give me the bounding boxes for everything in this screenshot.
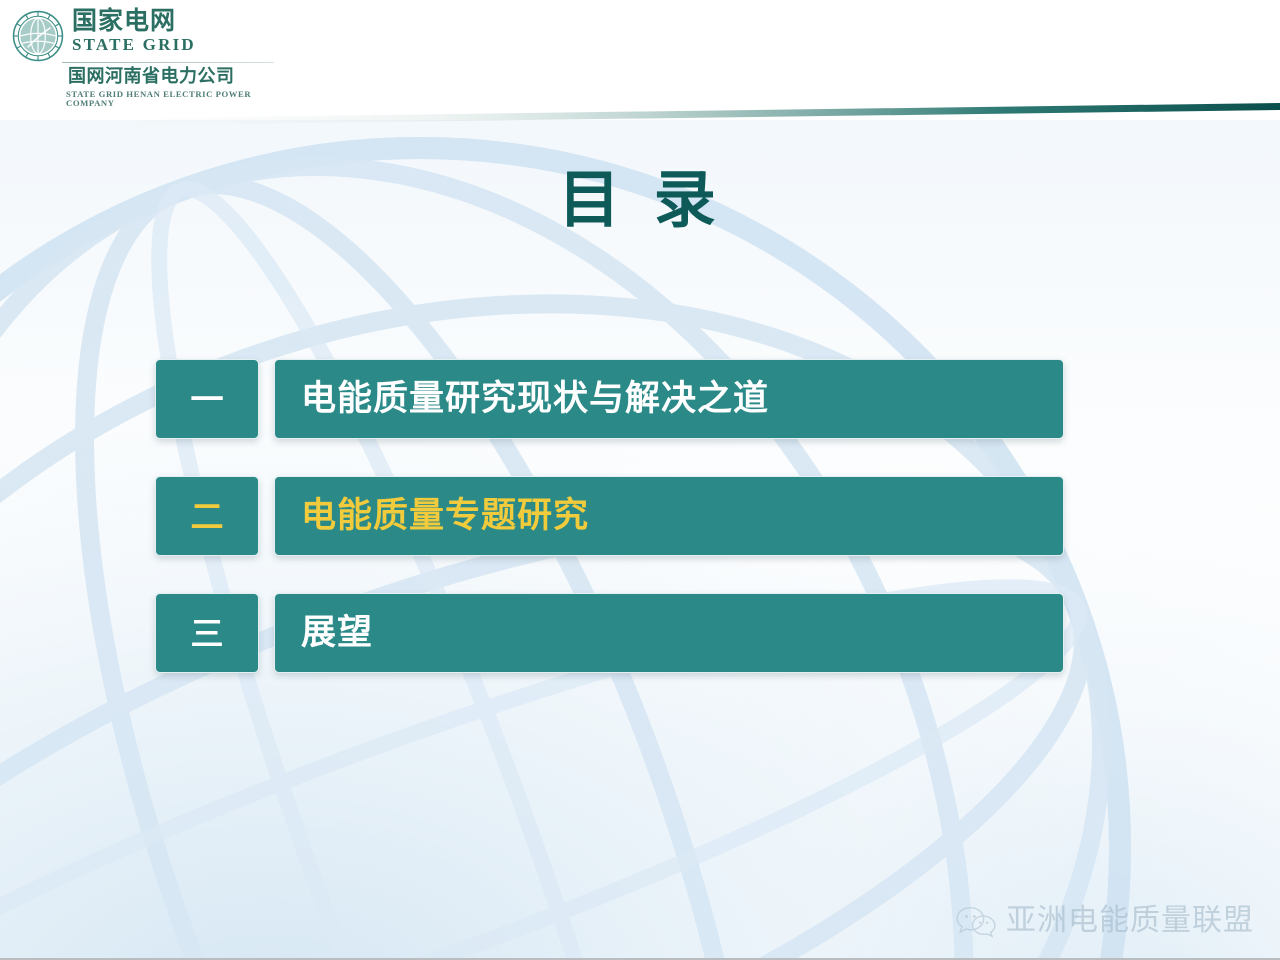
agenda-list: 一 电能质量研究现状与解决之道 二 电能质量专题研究 三 展望 [0, 0, 1280, 960]
agenda-label-3[interactable]: 展望 [274, 593, 1064, 673]
presentation-slide: 国家电网 STATE GRID 国网河南省电力公司 STATE GRID HEN… [0, 0, 1280, 960]
agenda-number-3[interactable]: 三 [155, 593, 259, 673]
watermark: 亚洲电能质量联盟 [955, 904, 1254, 938]
wechat-icon [955, 904, 997, 938]
watermark-text: 亚洲电能质量联盟 [1006, 906, 1254, 936]
agenda-number-1[interactable]: 一 [155, 359, 259, 439]
agenda-label-2[interactable]: 电能质量专题研究 [274, 476, 1064, 556]
agenda-label-1[interactable]: 电能质量研究现状与解决之道 [274, 359, 1064, 439]
agenda-number-2[interactable]: 二 [155, 476, 259, 556]
